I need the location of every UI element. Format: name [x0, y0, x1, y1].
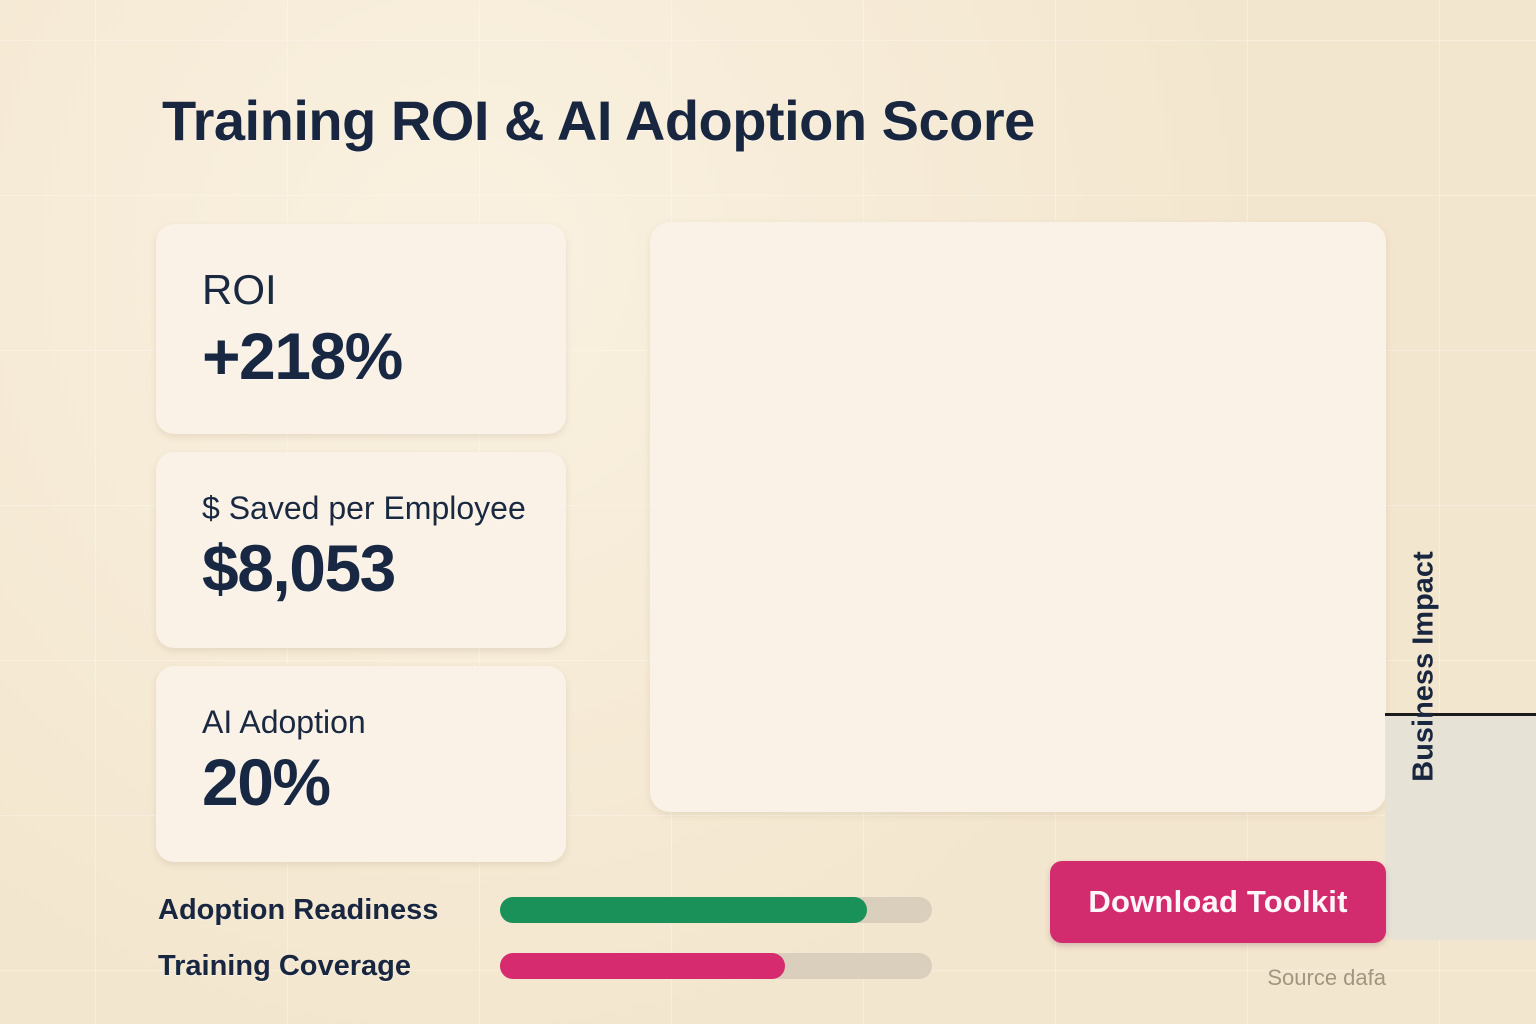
- kpi-label: AI Adoption: [202, 704, 366, 741]
- progress-track[interactable]: [500, 953, 932, 979]
- progress-row-training-coverage: Training Coverage: [158, 946, 938, 986]
- kpi-label: ROI: [202, 266, 277, 314]
- progress-label: Adoption Readiness: [158, 894, 438, 927]
- slide-canvas: Training ROI & AI Adoption Score ROI +21…: [0, 0, 1536, 1024]
- axis-label-x: Adoption Readiness: [1385, 970, 1536, 1003]
- progress-fill: [500, 953, 785, 979]
- source-note: Source dafa: [1050, 965, 1386, 991]
- progress-label: Training Coverage: [158, 950, 411, 983]
- kpi-card-roi: ROI +218%: [156, 224, 566, 434]
- kpi-value: 20%: [202, 744, 330, 820]
- kpi-card-saved-per-employee: $ Saved per Employee $8,053: [156, 452, 566, 648]
- kpi-card-ai-adoption: AI Adoption 20%: [156, 666, 566, 862]
- download-toolkit-button[interactable]: Download Toolkit: [1050, 861, 1386, 943]
- axis-label-y: Business Impact: [1408, 522, 1441, 812]
- progress-track[interactable]: [500, 897, 932, 923]
- kpi-label: $ Saved per Employee: [202, 490, 526, 527]
- kpi-value: +218%: [202, 318, 402, 394]
- kpi-value: $8,053: [202, 530, 395, 606]
- progress-row-adoption-readiness: Adoption Readiness: [158, 890, 938, 930]
- quadrant-chart-panel: High Impact Ready to Pilot Business Impa…: [650, 222, 1386, 812]
- page-title: Training ROI & AI Adoption Score: [162, 88, 1035, 153]
- progress-fill: [500, 897, 867, 923]
